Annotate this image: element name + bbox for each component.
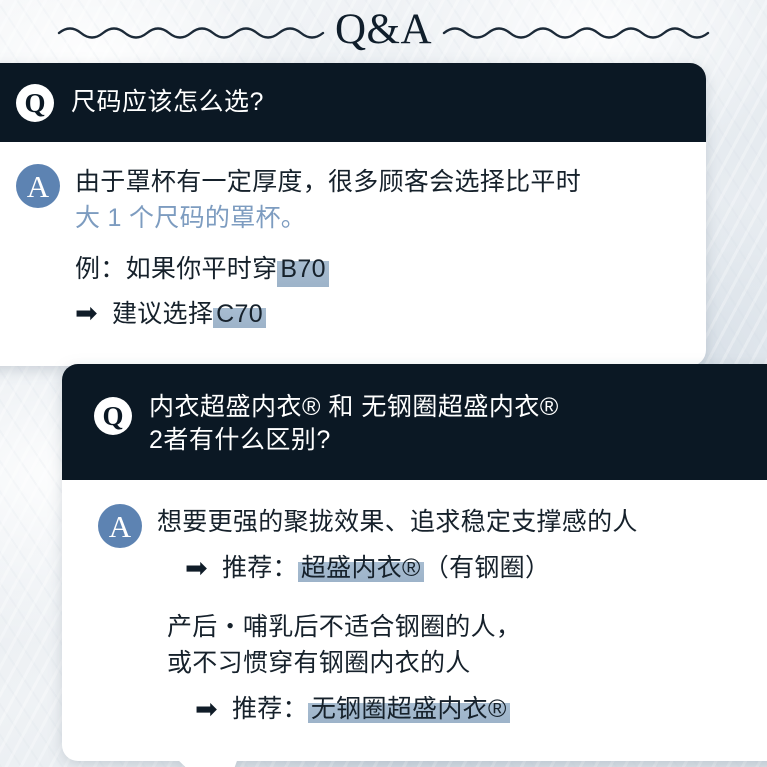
speech-tail-card-2 <box>168 363 298 767</box>
wavy-rule-left-icon <box>57 21 325 41</box>
question-badge: Q <box>94 397 132 435</box>
answer-line-1b: 大 1 个尺码的罩杯。 <box>75 200 581 236</box>
wavy-rule-right-icon <box>442 21 710 41</box>
result-highlight-c70: C70 <box>213 300 266 328</box>
example-highlight-b70: B70 <box>277 251 328 287</box>
example-label: 例： <box>75 251 126 287</box>
result-text: 建议选择 <box>112 300 213 328</box>
example-text: 如果你平时穿 <box>126 251 278 287</box>
page-title: Q&A <box>335 8 432 55</box>
recommendation-1-suffix: （有钢圈） <box>424 554 551 582</box>
answer-badge: A <box>16 164 60 208</box>
answer-badge: A <box>98 504 142 548</box>
result-line: 建议选择C70 <box>112 296 266 332</box>
faq-card-2: Q 内衣超盛内衣® 和 无钢圈超盛内衣® 2者有什么区别? A 想要更强的聚拢效… <box>62 364 767 761</box>
arrow-right-icon: ➡ <box>75 300 98 327</box>
faq-card-1: Q 尺码应该怎么选? A 由于罩杯有一定厚度，很多顾客会选择比平时 大 1 个尺… <box>0 63 706 366</box>
answer-text-1: 由于罩杯有一定厚度，很多顾客会选择比平时 大 1 个尺码的罩杯。 <box>75 164 581 237</box>
recommendation-2-highlight: 无钢圈超盛内衣® <box>308 695 510 723</box>
question-badge: Q <box>16 84 54 122</box>
answer-line-1a: 由于罩杯有一定厚度，很多顾客会选择比平时 <box>75 164 581 200</box>
page-header: Q&A <box>0 0 767 62</box>
question-text-1: 尺码应该怎么选? <box>71 84 264 119</box>
recommendation-1-highlight: 超盛内衣® <box>298 554 424 582</box>
